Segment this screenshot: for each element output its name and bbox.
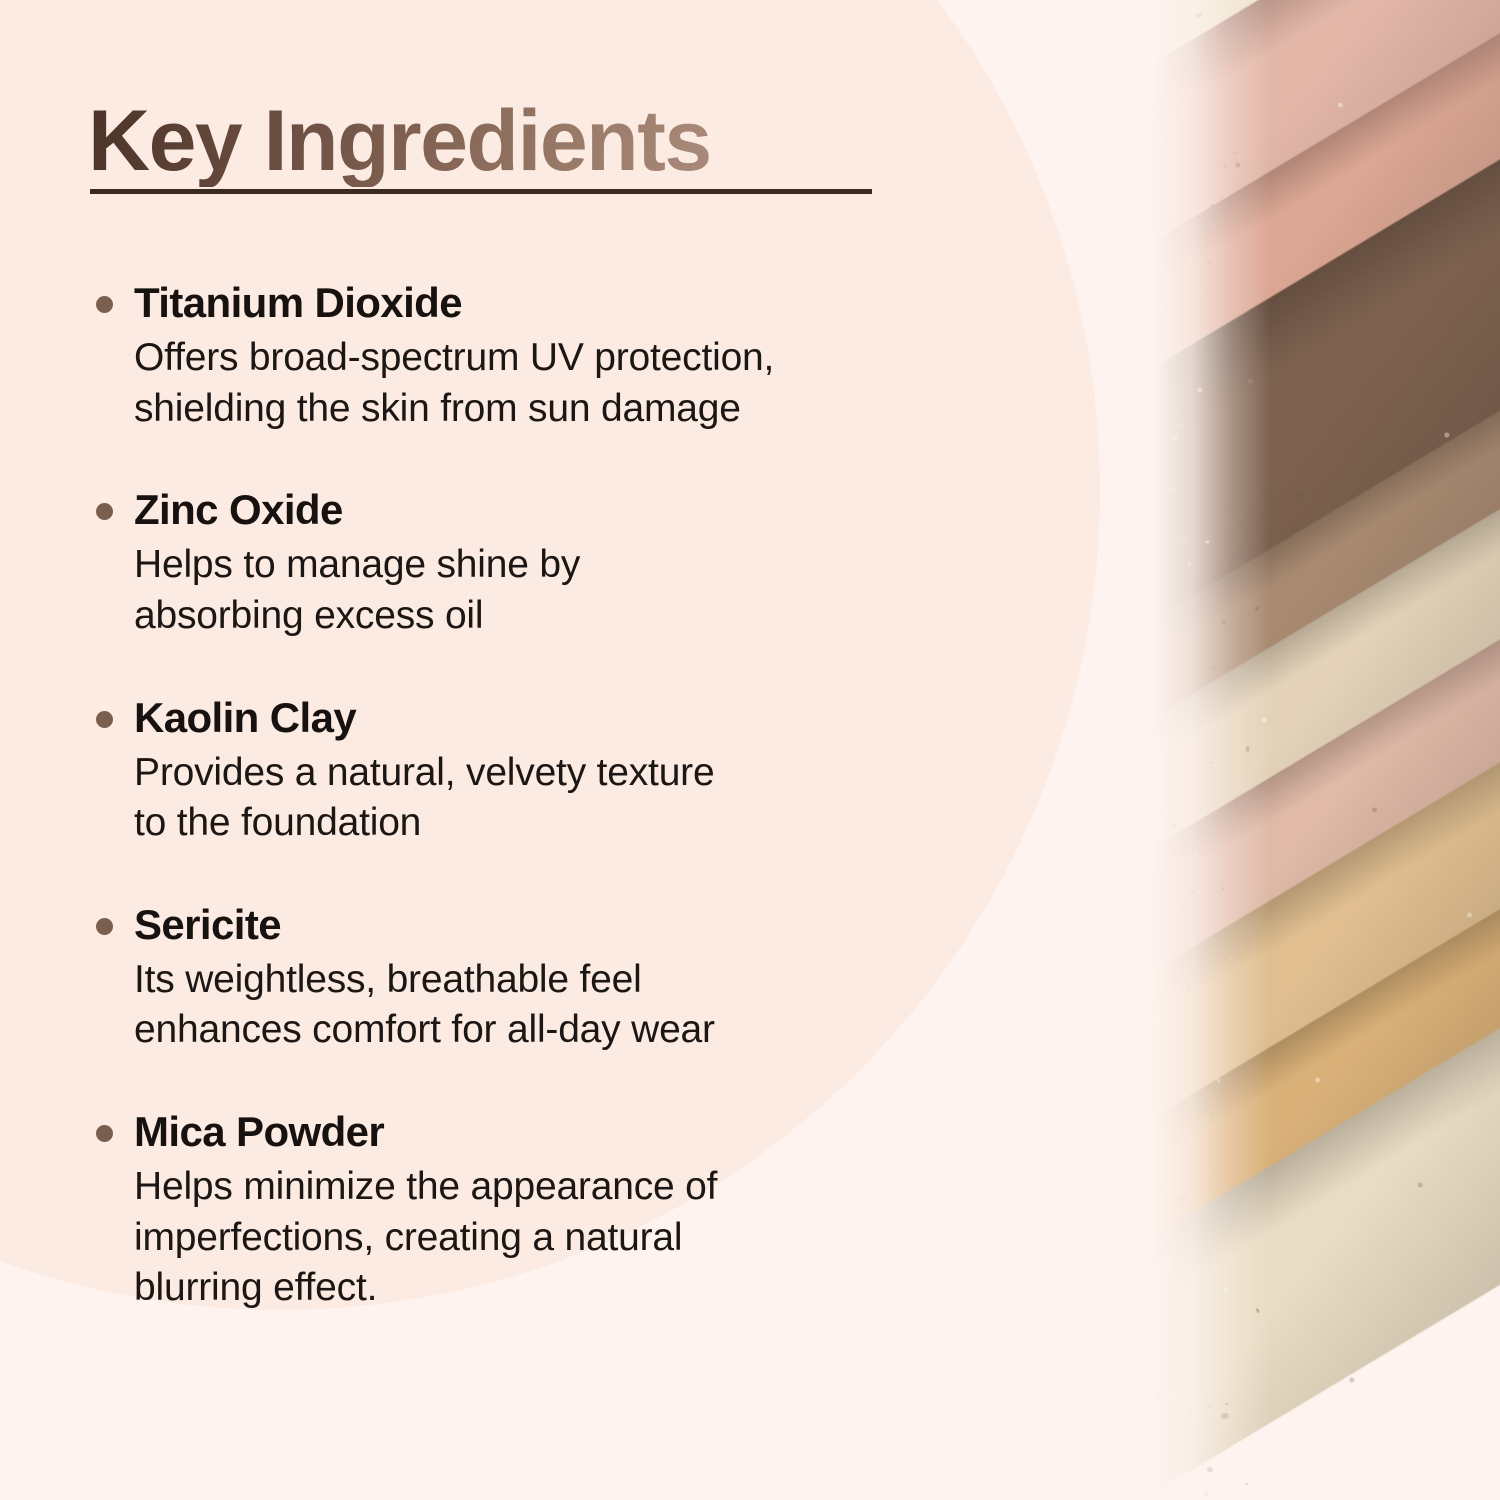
bullet-dot-icon (96, 296, 113, 313)
ingredient-list: Titanium DioxideOffers broad-spectrum UV… (88, 279, 988, 1314)
ingredient-description: Offers broad-spectrum UV protection, shi… (134, 333, 988, 434)
ingredient-description: Provides a natural, velvety texture to t… (134, 748, 988, 849)
bullet-dot-icon (96, 1125, 113, 1142)
ingredient-description: Helps to manage shine by absorbing exces… (134, 540, 988, 641)
page-title: Key Ingredients (88, 96, 711, 187)
ingredient-name: Titanium Dioxide (134, 279, 988, 327)
ingredient-item: Kaolin ClayProvides a natural, velvety t… (88, 694, 988, 849)
ingredient-item: Titanium DioxideOffers broad-spectrum UV… (88, 279, 988, 434)
ingredient-description: Its weightless, breathable feel enhances… (134, 955, 988, 1056)
key-ingredients-infographic: Key Ingredients Titanium DioxideOffers b… (0, 0, 1500, 1500)
ingredient-name: Mica Powder (134, 1108, 988, 1156)
ingredient-name: Kaolin Clay (134, 694, 988, 742)
powder-swatch-photo (1120, 0, 1500, 1500)
ingredient-name: Sericite (134, 901, 988, 949)
bullet-dot-icon (96, 711, 113, 728)
content-column: Key Ingredients Titanium DioxideOffers b… (0, 0, 1060, 1500)
bullet-dot-icon (96, 918, 113, 935)
title-underline (90, 189, 872, 194)
ingredient-item: SericiteIts weightless, breathable feel … (88, 901, 988, 1056)
bullet-dot-icon (96, 503, 113, 520)
ingredient-item: Mica PowderHelps minimize the appearance… (88, 1108, 988, 1314)
page-title-wrapper: Key Ingredients (88, 96, 711, 187)
powder-feathered-edge (1120, 0, 1270, 1500)
ingredient-name: Zinc Oxide (134, 486, 988, 534)
ingredient-description: Helps minimize the appearance of imperfe… (134, 1162, 988, 1314)
ingredient-item: Zinc OxideHelps to manage shine by absor… (88, 486, 988, 641)
